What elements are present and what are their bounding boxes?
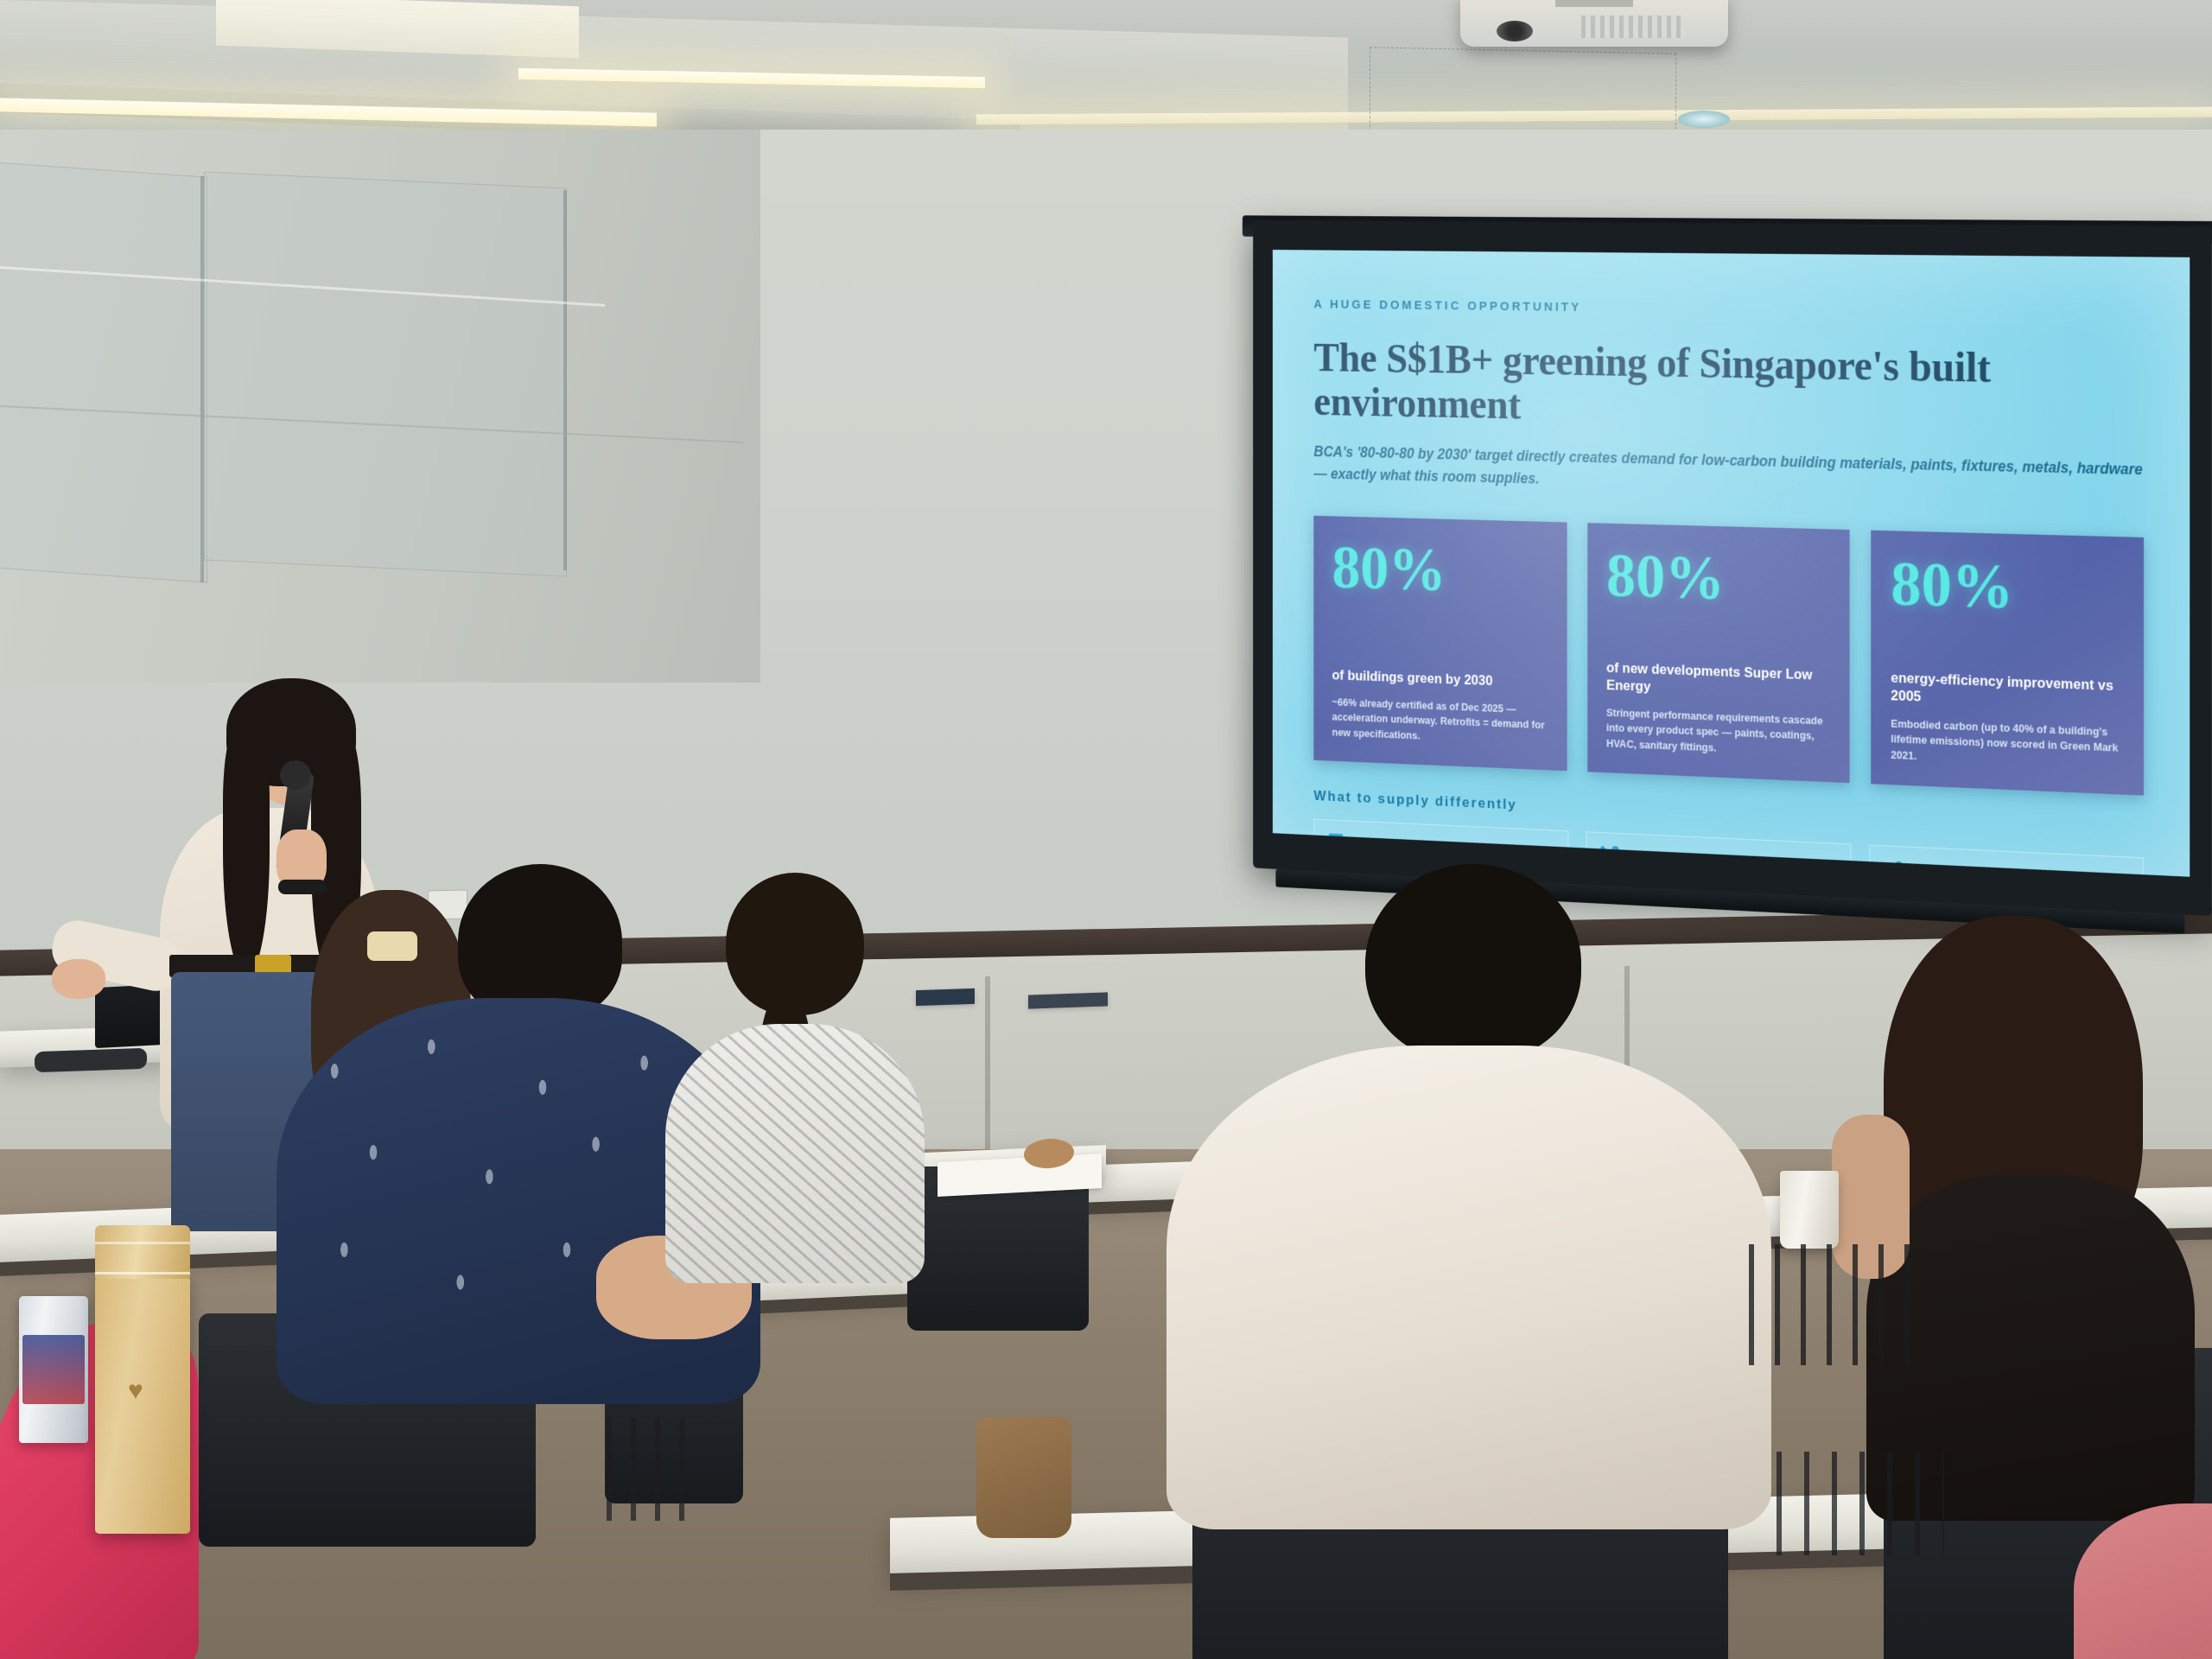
thermos-cap [95, 1225, 190, 1279]
microphone-head-icon [280, 760, 311, 790]
stat-label: of new developments Super Low Energy [1606, 659, 1830, 703]
remote-control [916, 988, 975, 1006]
head [1365, 864, 1581, 1063]
heart-icon: ♥ [128, 1378, 143, 1404]
wristband [278, 880, 327, 894]
head [726, 873, 864, 1015]
stat-card: 80% energy-efficiency improvement vs 200… [1872, 531, 2144, 796]
slide-subtitle: BCA's '80-80-80 by 2030' target directly… [1313, 441, 2144, 505]
thermos-ring [95, 1242, 190, 1244]
torso [665, 1024, 925, 1283]
shirt-pattern [665, 1024, 925, 1283]
ceiling-access-hatch [1370, 47, 1676, 137]
handbag [976, 1417, 1071, 1538]
projection-screen: A HUGE DOMESTIC OPPORTUNITY The S$1B+ gr… [1253, 220, 2212, 916]
stat-value: 80% [1891, 553, 2123, 623]
slide-eyebrow: A HUGE DOMESTIC OPPORTUNITY [1313, 297, 2144, 321]
chair-slot-pattern [1754, 1452, 1944, 1555]
slide-title: The S$1B+ greening of Singapore's built … [1313, 335, 2144, 439]
classroom-scene: A HUGE DOMESTIC OPPORTUNITY The S$1B+ gr… [0, 0, 2212, 1659]
projector-vent [1581, 16, 1685, 38]
stat-card-row: 80% of buildings green by 2030 ~66% alre… [1313, 516, 2144, 796]
presentation-slide: A HUGE DOMESTIC OPPORTUNITY The S$1B+ gr… [1273, 250, 2190, 877]
projector-lens-icon [1497, 21, 1533, 41]
glass-partition [0, 162, 207, 582]
can-label [22, 1335, 85, 1404]
thermos-ring [95, 1272, 190, 1274]
stat-description: ~66% already certified as of Dec 2025 — … [1332, 695, 1548, 749]
presenter-hand-left [52, 959, 105, 999]
window-mullion [563, 190, 567, 570]
stat-card: 80% of new developments Super Low Energy… [1587, 523, 1850, 783]
hair-clip [367, 931, 417, 961]
projector-mount [1555, 0, 1633, 7]
stat-value: 80% [1606, 545, 1830, 613]
paper-cup [1780, 1171, 1839, 1249]
chair-slot-pattern [588, 1417, 691, 1521]
stat-label: energy-efficiency improvement vs 2005 [1891, 670, 2123, 715]
presenter-hair-strand [223, 726, 270, 976]
stat-label: of buildings green by 2030 [1332, 667, 1548, 693]
chair-slot-pattern [1728, 1244, 1918, 1365]
head [458, 864, 622, 1020]
remote-control [1028, 992, 1108, 1008]
ceiling-downlight [1678, 111, 1730, 128]
glass-partition [204, 171, 567, 576]
wainscot-joint [985, 976, 990, 1175]
stat-description: Embodied carbon (up to 40% of a building… [1891, 716, 2123, 772]
stat-description: Stringent performance requirements casca… [1606, 705, 1830, 760]
torso [1166, 1046, 1771, 1529]
window-mullion [200, 176, 204, 582]
stat-value: 80% [1332, 537, 1548, 605]
cable-coil [35, 1048, 147, 1073]
stat-card: 80% of buildings green by 2030 ~66% alre… [1313, 516, 1567, 771]
